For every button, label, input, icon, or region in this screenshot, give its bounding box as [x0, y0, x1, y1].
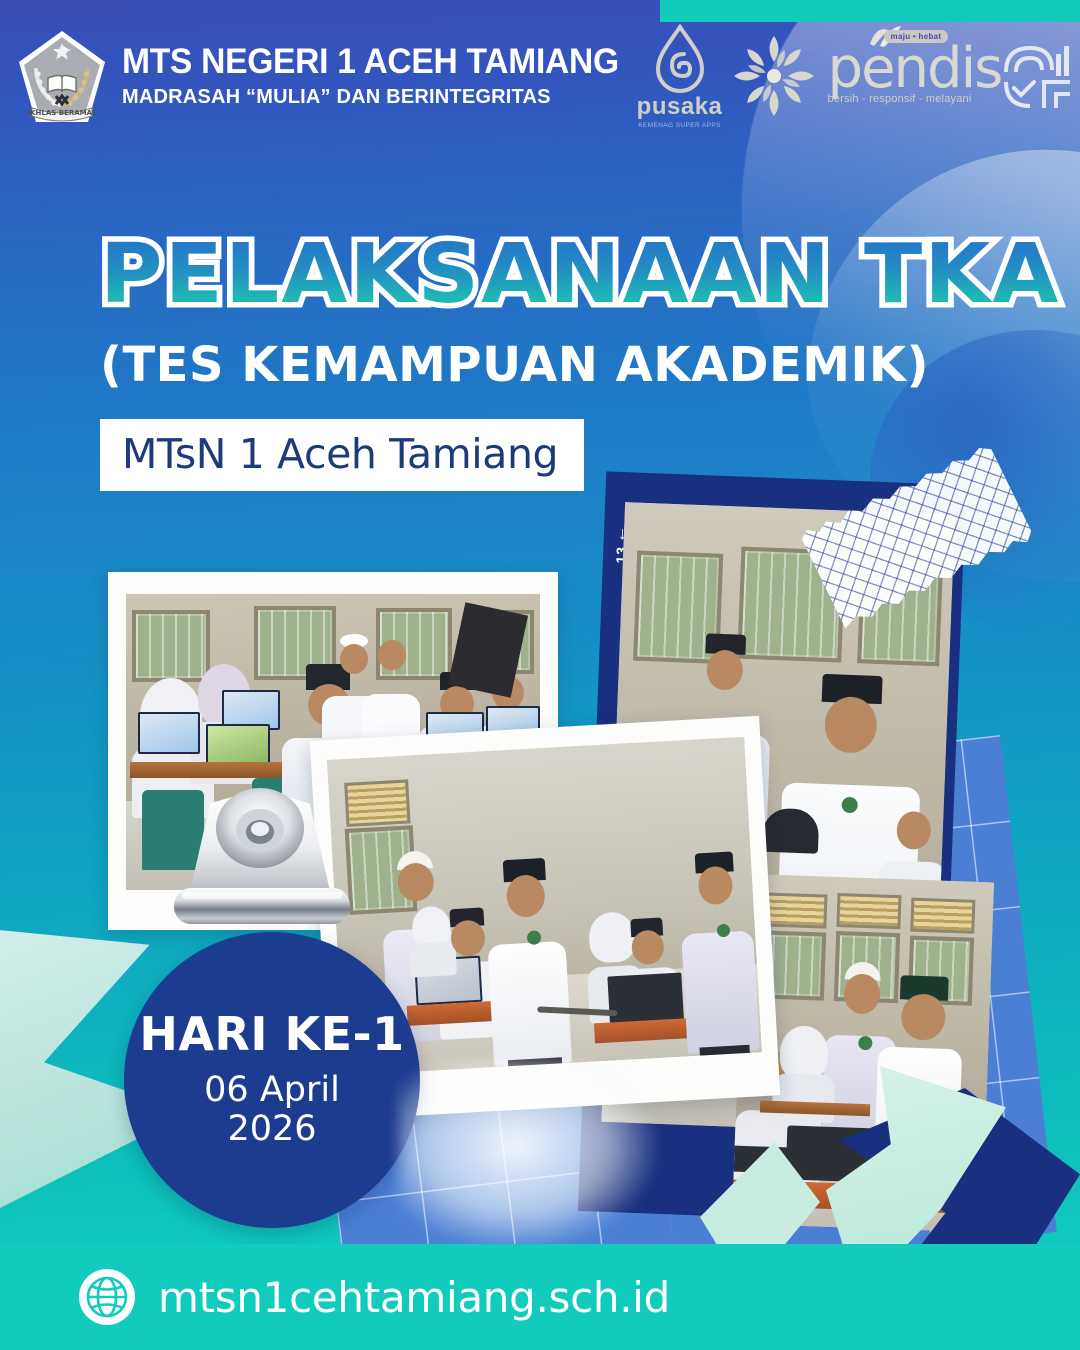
globe-icon — [78, 1268, 136, 1326]
pendis-wordmark: pendis — [828, 47, 994, 91]
school-identity: MTS NEGERI 1 ACEH TAMIANG MADRASAH “MULI… — [122, 43, 640, 110]
water-drop-icon — [653, 24, 707, 94]
kemenag-ribbon-text: IKHLAS BERAMAL — [27, 109, 97, 117]
event-date: 06 April — [204, 1071, 340, 1110]
event-year: 2026 — [227, 1110, 316, 1149]
date-badge: HARI KE-1 06 April 2026 — [124, 932, 420, 1228]
binder-clip-icon — [156, 788, 364, 928]
headline-block: PELAKSANAAN TKA PELAKSANAAN TKA (TES KEM… — [100, 236, 1024, 491]
main-title-shell: PELAKSANAAN TKA PELAKSANAAN TKA — [100, 236, 1024, 315]
pusaka-subtitle: KEMENAG SUPER APPS — [638, 122, 721, 129]
kemenag-berdampak-logo: Kemenag Berdampak — [1000, 28, 1080, 124]
school-tagline: MADRASAH “MULIA” DAN BERINTEGRITAS — [122, 86, 640, 109]
kemenag-pentagon-logo-icon: IKHLAS BERAMAL — [16, 28, 108, 128]
pendis-badge: maju • hebat — [884, 30, 949, 43]
day-label: HARI KE-1 — [139, 1011, 404, 1057]
footer-curve — [660, 0, 1080, 22]
partner-logo-row: pusaka KEMENAG SUPER APPS — [640, 21, 1080, 131]
poster-header: IKHLAS BERAMAL MTS NEGERI 1 ACEH TAMIANG… — [0, 0, 1080, 152]
decorative-glow — [398, 1060, 658, 1250]
islamic-flower-ornament-icon — [726, 28, 822, 124]
pusaka-logo: pusaka KEMENAG SUPER APPS — [640, 24, 720, 129]
pendis-subtitle: bersih - responsif - melayani — [828, 93, 994, 105]
pendis-logo: maju • hebat pendis bersih - responsif -… — [828, 26, 994, 126]
school-name: MTS NEGERI 1 ACEH TAMIANG — [122, 43, 619, 81]
poster-footer: mtsn1cehtamiang.sch.id — [0, 1244, 1080, 1350]
poster-canvas: IKHLAS BERAMAL MTS NEGERI 1 ACEH TAMIANG… — [0, 0, 1080, 1350]
website-url: mtsn1cehtamiang.sch.id — [158, 1273, 670, 1322]
kemenag-berdampak-mark-icon — [1000, 38, 1076, 114]
school-chip: MTsN 1 Aceh Tamiang — [100, 419, 584, 491]
page-title: PELAKSANAAN TKA — [100, 236, 1061, 315]
pusaka-wordmark: pusaka — [637, 95, 723, 119]
page-subtitle: (TES KEMAMPUAN AKADEMIK) — [100, 337, 1024, 393]
